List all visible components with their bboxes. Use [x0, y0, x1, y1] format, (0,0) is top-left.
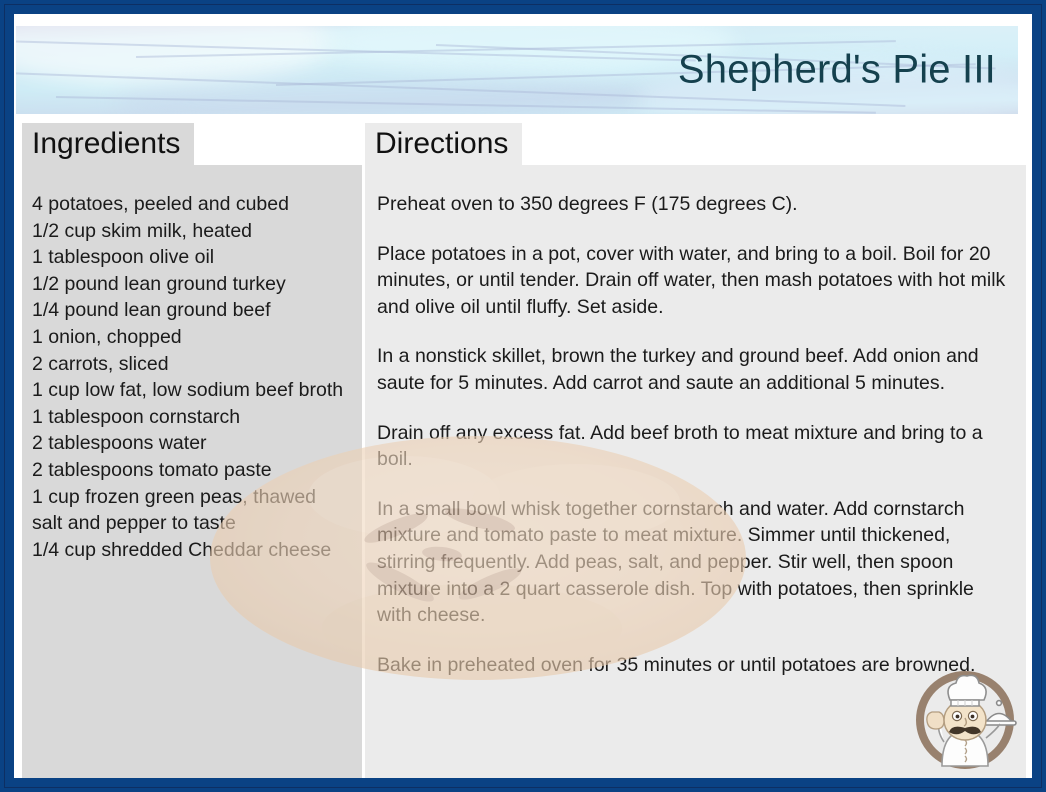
ingredient-item: 1 tablespoon olive oil [32, 244, 348, 271]
ingredient-item: 1/2 cup skim milk, heated [32, 218, 348, 245]
ingredient-item: 1/2 pound lean ground turkey [32, 271, 348, 298]
card-frame: Shepherd's Pie III Ingredients 4 potatoe… [0, 0, 1046, 792]
ingredients-column: Ingredients 4 potatoes, peeled and cubed… [22, 123, 362, 778]
direction-step: Preheat oven to 350 degrees F (175 degre… [377, 191, 1010, 218]
ingredient-item: 1/4 cup shredded Cheddar cheese [32, 537, 348, 564]
directions-column: Directions Preheat oven to 350 degrees F… [365, 123, 1026, 778]
directions-steps: Preheat oven to 350 degrees F (175 degre… [365, 165, 1026, 778]
ingredient-item: 1 cup low fat, low sodium beef broth [32, 377, 348, 404]
ingredient-item: 1 onion, chopped [32, 324, 348, 351]
direction-step: Bake in preheated oven for 35 minutes or… [377, 652, 1010, 679]
direction-step: In a nonstick skillet, brown the turkey … [377, 343, 1010, 396]
ingredient-item: 4 potatoes, peeled and cubed [32, 191, 348, 218]
recipe-page: Shepherd's Pie III Ingredients 4 potatoe… [14, 14, 1032, 778]
ingredients-list: 4 potatoes, peeled and cubed1/2 cup skim… [22, 165, 362, 778]
ingredient-item: 2 tablespoons tomato paste [32, 457, 348, 484]
ingredient-item: 2 tablespoons water [32, 430, 348, 457]
ingredient-item: 1 tablespoon cornstarch [32, 404, 348, 431]
ingredient-item: 2 carrots, sliced [32, 351, 348, 378]
direction-step: Place potatoes in a pot, cover with wate… [377, 241, 1010, 321]
directions-heading: Directions [365, 123, 522, 165]
recipe-title: Shepherd's Pie III [678, 48, 996, 93]
title-banner: Shepherd's Pie III [16, 26, 1018, 114]
ingredient-item: 1/4 pound lean ground beef [32, 297, 348, 324]
ingredient-item: salt and pepper to taste [32, 510, 348, 537]
ingredients-heading: Ingredients [22, 123, 194, 165]
ingredient-item: 1 cup frozen green peas, thawed [32, 484, 348, 511]
direction-step: Drain off any excess fat. Add beef broth… [377, 420, 1010, 473]
direction-step: In a small bowl whisk together cornstarc… [377, 496, 1010, 629]
